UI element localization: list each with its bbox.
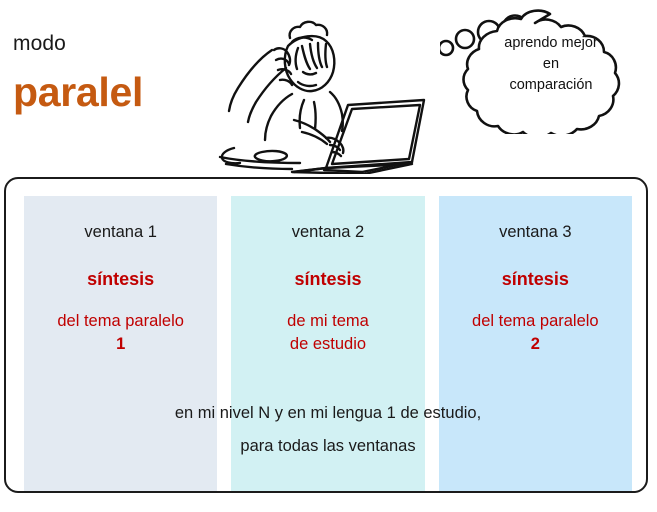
thought-bubble-line-2: en [466,54,636,75]
window-2-detail: de mi tema de estudio [231,310,424,356]
window-3-heading: síntesis [439,270,632,288]
thought-bubble-line-3: comparación [466,75,636,96]
window-1-title: ventana 1 [24,224,217,241]
window-3-detail-line-2: 2 [439,333,632,356]
window-column-2[interactable]: ventana 2 síntesis de mi tema de estudio [231,196,424,491]
window-column-2-content: ventana 2 síntesis de mi tema de estudio [231,224,424,356]
window-column-1[interactable]: ventana 1 síntesis del tema paralelo 1 [24,196,217,491]
header-area: modo paralel [0,0,657,177]
window-columns: ventana 1 síntesis del tema paralelo 1 v… [24,196,632,491]
window-column-3[interactable]: ventana 3 síntesis del tema paralelo 2 [439,196,632,491]
window-1-detail-line-1: del tema paralelo [24,310,217,333]
window-2-title: ventana 2 [231,224,424,241]
thought-bubble-text: aprendo mejor en comparación [466,33,636,96]
window-2-detail-line-2: de estudio [231,333,424,356]
page-title: paralel [13,72,143,113]
thought-bubble-line-1: aprendo mejor [466,33,636,54]
window-1-heading: síntesis [24,270,217,288]
window-column-1-content: ventana 1 síntesis del tema paralelo 1 [24,224,217,356]
window-3-title: ventana 3 [439,224,632,241]
window-3-detail-line-1: del tema paralelo [439,310,632,333]
window-column-3-content: ventana 3 síntesis del tema paralelo 2 [439,224,632,356]
window-2-heading: síntesis [231,270,424,288]
window-1-detail: del tema paralelo 1 [24,310,217,356]
parallel-mode-panel: ventana 1 síntesis del tema paralelo 1 v… [4,177,648,493]
person-thinking-at-laptop-icon [206,2,446,174]
window-2-detail-line-1: de mi tema [231,310,424,333]
window-1-detail-line-2: 1 [24,333,217,356]
window-3-detail: del tema paralelo 2 [439,310,632,356]
mode-label: modo [13,33,66,54]
